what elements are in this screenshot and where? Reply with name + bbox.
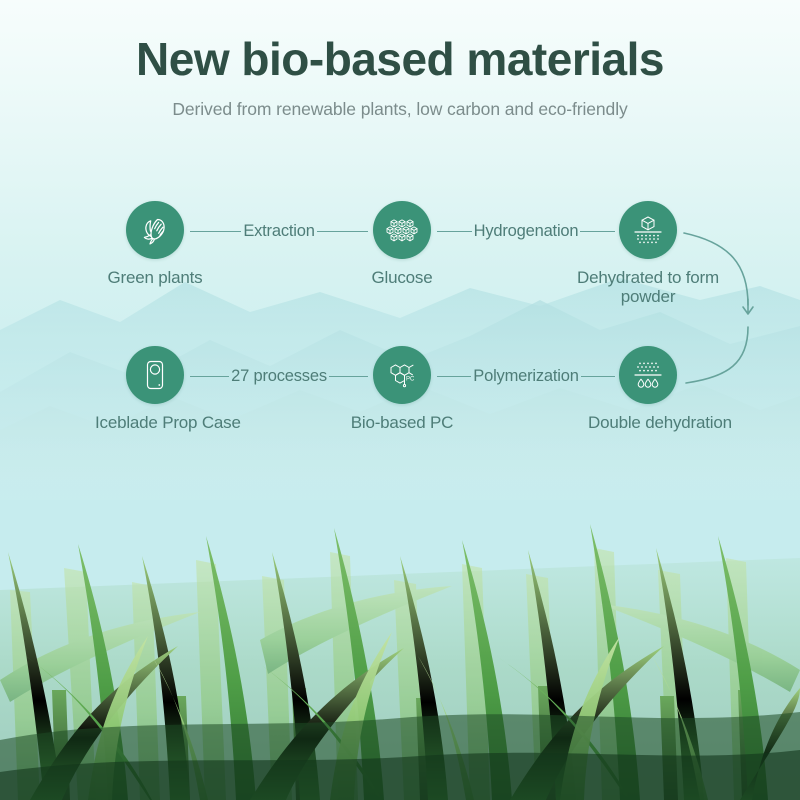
connector-line-left	[190, 231, 241, 232]
flow-node-green-plants[interactable]: Green plants	[95, 201, 215, 287]
flow-node-dehydrated-powder[interactable]: Dehydrated to form powder	[588, 201, 708, 306]
dehydration-droplets-icon	[631, 358, 665, 392]
flow-node-double-dehydration[interactable]: Double dehydration	[588, 346, 708, 432]
connector-line-left	[190, 376, 229, 377]
sugarcane-field-photo	[0, 440, 800, 800]
flow-node-glucose[interactable]: Glucose	[342, 201, 462, 287]
sugar-cubes-icon	[385, 213, 419, 247]
flow-node-bio-based-pc[interactable]: PC Bio-based PC	[342, 346, 462, 432]
svg-text:PC: PC	[406, 377, 415, 383]
green-plants-bubble	[126, 201, 184, 259]
flow-node-label: Dehydrated to form powder	[568, 268, 728, 306]
flow-node-label: Bio-based PC	[342, 413, 462, 432]
powder-cube-icon	[631, 213, 665, 247]
bio-based-pc-bubble: PC	[373, 346, 431, 404]
connector-line-left	[437, 231, 472, 232]
flow-node-label: Glucose	[342, 268, 462, 287]
connector-label: Extraction	[241, 222, 316, 241]
flow-node-label: Double dehydration	[588, 413, 708, 432]
flow-node-label: Green plants	[95, 268, 215, 287]
dehydrated-powder-bubble	[619, 201, 677, 259]
pc-molecule-icon: PC	[385, 358, 419, 392]
corn-icon	[138, 213, 172, 247]
glucose-bubble	[373, 201, 431, 259]
phone-case-icon	[138, 358, 172, 392]
connector-label: Polymerization	[471, 367, 580, 386]
connector-label: 27 processes	[229, 367, 329, 386]
connector-line-left	[437, 376, 471, 377]
double-dehydration-bubble	[619, 346, 677, 404]
flow-node-iceblade-prop-case[interactable]: Iceblade Prop Case	[95, 346, 215, 432]
process-flow-diagram: Green plants Extraction	[0, 0, 800, 470]
connector-label: Hydrogenation	[472, 222, 581, 241]
iceblade-prop-case-bubble	[126, 346, 184, 404]
flow-node-label: Iceblade Prop Case	[95, 413, 215, 432]
infographic-page: New bio-based materials Derived from ren…	[0, 0, 800, 800]
